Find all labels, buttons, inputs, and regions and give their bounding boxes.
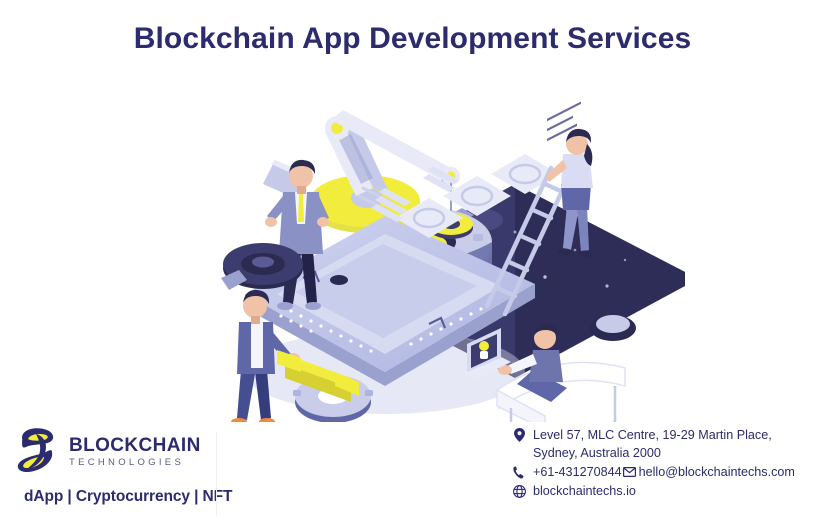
banner-root: Blockchain App Development Services bbox=[0, 0, 825, 525]
contact-phone-email-line: +61-431270844 hello@blockchaintechs.com bbox=[512, 463, 817, 481]
brand-name: BLOCKCHAIN bbox=[69, 436, 201, 456]
phone-icon bbox=[512, 463, 526, 480]
brand-text: BLOCKCHAIN TECHNOLOGIES bbox=[69, 434, 201, 470]
brand-lockup: BLOCKCHAIN TECHNOLOGIES bbox=[14, 426, 201, 478]
footer-divider bbox=[216, 432, 217, 516]
contact-address: Level 57, MLC Centre, 19-29 Martin Place… bbox=[533, 426, 772, 462]
contact-block: Level 57, MLC Centre, 19-29 Martin Place… bbox=[512, 426, 817, 501]
contact-address-line: Level 57, MLC Centre, 19-29 Martin Place… bbox=[512, 426, 817, 462]
phone-email-group: +61-431270844 hello@blockchaintechs.com bbox=[533, 463, 795, 481]
brand-tagline: dApp | Cryptocurrency | NFT bbox=[24, 488, 232, 506]
envelope-icon bbox=[623, 467, 636, 477]
footer: BLOCKCHAIN TECHNOLOGIES dApp | Cryptocur… bbox=[0, 420, 825, 525]
globe-icon bbox=[512, 482, 526, 499]
contact-website[interactable]: blockchaintechs.io bbox=[533, 482, 636, 500]
contact-email[interactable]: hello@blockchaintechs.com bbox=[639, 463, 795, 481]
swirl-logo-icon bbox=[14, 426, 60, 478]
hero-illustration bbox=[215, 72, 815, 422]
page-title: Blockchain App Development Services bbox=[0, 22, 825, 56]
contact-website-line: blockchaintechs.io bbox=[512, 482, 817, 500]
brand-subtitle: TECHNOLOGIES bbox=[69, 456, 201, 470]
location-pin-icon bbox=[512, 426, 526, 443]
brand-block: BLOCKCHAIN TECHNOLOGIES dApp | Cryptocur… bbox=[14, 426, 219, 518]
satellite-dish bbox=[221, 243, 303, 290]
contact-phone: +61-431270844 bbox=[533, 463, 622, 481]
